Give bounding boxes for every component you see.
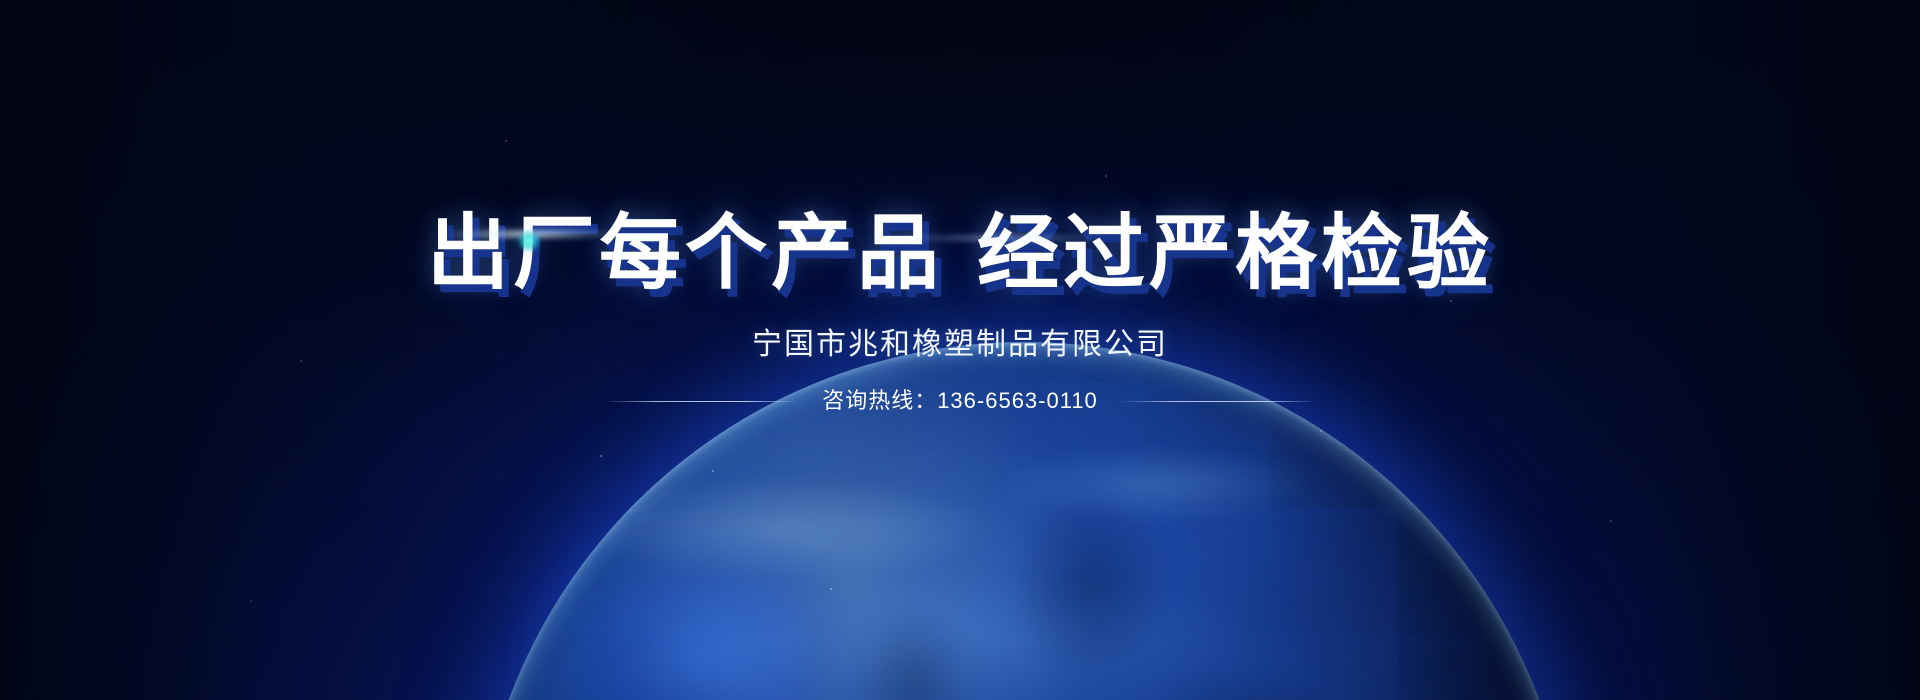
page-title: 出厂每个产品经过严格检验 bbox=[427, 198, 1493, 310]
company-name: 宁国市兆和橡塑制品有限公司 bbox=[0, 323, 1920, 367]
hero-banner: 出厂每个产品经过严格检验 宁国市兆和橡塑制品有限公司 咨询热线：136-6563… bbox=[0, 0, 1920, 700]
headline-part-1: 出厂每个产品 bbox=[427, 208, 943, 299]
hotline-text: 咨询热线：136-6563-0110 bbox=[822, 385, 1098, 417]
headline-block: 出厂每个产品经过严格检验 bbox=[0, 198, 1920, 316]
divider-right bbox=[1120, 401, 1316, 402]
headline-part-2: 经过严格检验 bbox=[977, 208, 1493, 299]
divider-left bbox=[604, 401, 800, 402]
hotline-row: 咨询热线：136-6563-0110 bbox=[0, 385, 1920, 417]
